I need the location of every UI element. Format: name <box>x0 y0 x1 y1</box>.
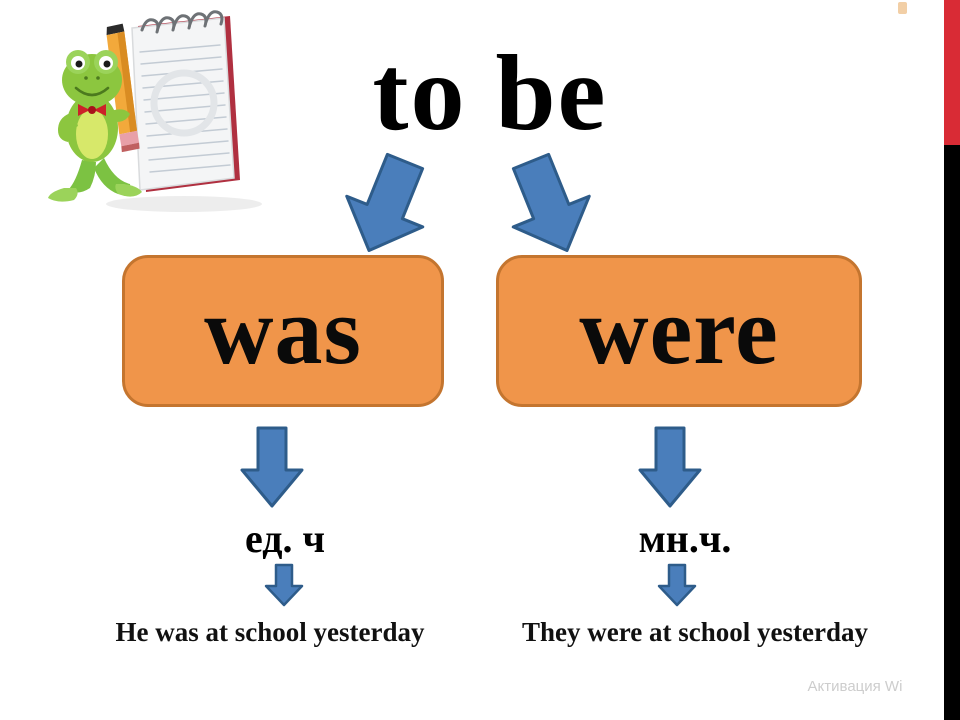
arrow-to-plural-icon <box>634 424 706 510</box>
windows-activation-watermark: Активация Wi <box>770 678 940 697</box>
example-sentence-singular: He was at school yesterday <box>50 618 490 648</box>
top-orange-speck <box>898 2 907 14</box>
edge-bar-black-segment <box>944 145 960 720</box>
arrow-to-plural-example-icon <box>655 562 699 608</box>
arrow-to-were-icon <box>494 152 604 260</box>
number-label-plural: мн.ч. <box>540 519 830 559</box>
frog-with-notepad-illustration <box>34 8 274 220</box>
example-sentence-plural: They were at school yesterday <box>460 618 930 648</box>
arrow-to-singular-example-icon <box>262 562 306 608</box>
word-label-were: were <box>579 283 778 379</box>
word-box-were: were <box>496 255 862 407</box>
word-label-was: was <box>204 283 362 379</box>
slide-canvas: to be was were ед. ч мн.ч. <box>0 0 960 720</box>
number-label-singular: ед. ч <box>140 519 430 559</box>
page-title: to be <box>300 40 680 148</box>
right-edge-bar <box>944 0 960 720</box>
arrow-to-was-icon <box>332 152 442 260</box>
edge-bar-red-segment <box>944 0 960 145</box>
arrow-to-singular-icon <box>236 424 308 510</box>
word-box-was: was <box>122 255 444 407</box>
watermark-line-1: Активация Wi <box>770 678 940 697</box>
